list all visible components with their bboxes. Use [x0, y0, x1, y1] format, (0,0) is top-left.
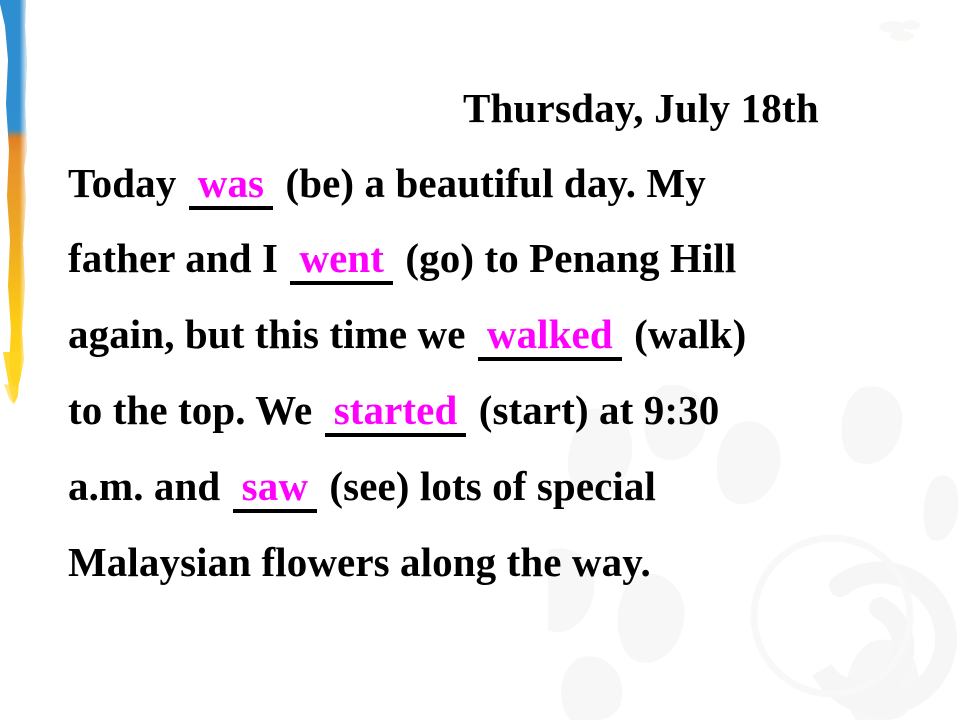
answer-blank-was[interactable]: was [189, 163, 273, 210]
line-2-text-before: father and I [68, 235, 288, 281]
exercise-line-3: again, but this time we walked (walk) [68, 310, 958, 361]
exercise-line-1: Today was (be) a beautiful day. My [68, 159, 958, 210]
answer-blank-saw[interactable]: saw [233, 466, 317, 513]
line-6-text: Malaysian flowers along the way. [68, 539, 651, 585]
answer-blank-went[interactable]: went [290, 238, 393, 285]
line-4-text-after: (start) at 9:30 [468, 387, 719, 433]
answer-blank-started[interactable]: started [325, 390, 467, 437]
line-5-text-after: (see) lots of special [319, 463, 656, 509]
exercise-line-6: Malaysian flowers along the way. [68, 538, 958, 586]
slide-text-content: Thursday, July 18th Today was (be) a bea… [0, 0, 960, 720]
line-4-text-before: to the top. We [68, 387, 323, 433]
slide-date-title: Thursday, July 18th [68, 84, 928, 132]
exercise-line-5: a.m. and saw (see) lots of special [68, 462, 958, 513]
slide-canvas: Thursday, July 18th Today was (be) a bea… [0, 0, 960, 720]
exercise-line-2: father and I went (go) to Penang Hill [68, 234, 958, 285]
line-1-text-after: (be) a beautiful day. My [275, 160, 706, 206]
exercise-line-4: to the top. We started (start) at 9:30 [68, 386, 958, 437]
line-3-text-after: (walk) [624, 311, 747, 357]
line-3-text-before: again, but this time we [68, 311, 476, 357]
line-1-text-before: Today [68, 160, 187, 206]
answer-blank-walked[interactable]: walked [478, 314, 622, 361]
line-5-text-before: a.m. and [68, 463, 231, 509]
line-2-text-after: (go) to Penang Hill [395, 235, 736, 281]
page-title: Thursday, July 18th [463, 85, 819, 131]
